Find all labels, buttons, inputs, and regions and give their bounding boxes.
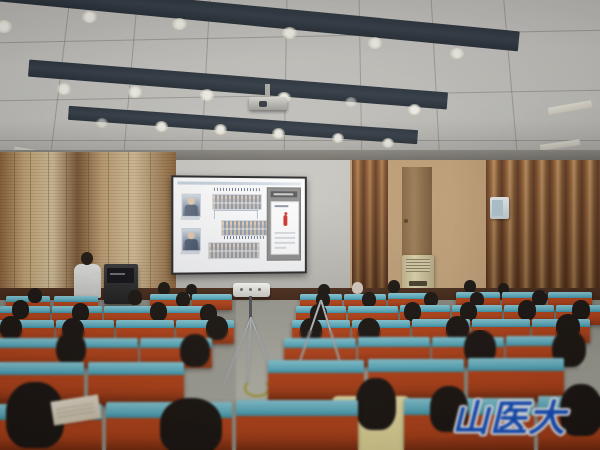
tripod-leg <box>320 300 343 369</box>
downlight <box>172 18 187 30</box>
presenter <box>72 252 102 300</box>
head <box>0 316 22 340</box>
head <box>150 302 167 321</box>
screen-glare <box>173 177 305 272</box>
head <box>176 292 190 307</box>
head <box>128 290 142 305</box>
projector-body <box>249 97 287 110</box>
tripod-leg <box>297 300 322 367</box>
seat-top <box>548 292 592 298</box>
head <box>388 280 400 293</box>
camera-indicator <box>249 288 252 291</box>
downlight <box>450 48 464 59</box>
ac-display-panel <box>409 281 427 286</box>
seat-top <box>368 359 464 372</box>
power-cable <box>244 379 270 397</box>
camera-indicator <box>258 288 261 291</box>
head <box>28 288 42 303</box>
presenter-head <box>81 252 93 265</box>
downlight <box>345 97 357 107</box>
lectern-monitor-text <box>110 273 125 275</box>
seat-top <box>0 362 84 375</box>
downlight <box>408 104 421 115</box>
head hair-light <box>352 282 363 294</box>
watermark-text: 山医大 <box>452 396 592 442</box>
head <box>356 378 396 430</box>
head <box>362 292 376 307</box>
seat-shading <box>236 438 358 450</box>
seat-top <box>358 337 430 347</box>
presentation-slide <box>173 177 305 272</box>
lecture-hall-photo: 山医大 <box>0 0 600 450</box>
speaker-grille <box>492 200 503 216</box>
downlight <box>57 83 71 95</box>
camera-device[interactable] <box>233 283 270 297</box>
downlight <box>200 89 214 101</box>
head <box>180 334 210 367</box>
seat-top <box>472 319 530 327</box>
lectern-monitor <box>107 268 134 283</box>
downlight <box>282 27 297 39</box>
ceiling-band-2 <box>28 60 448 110</box>
ceiling <box>0 0 600 175</box>
projector <box>249 84 287 117</box>
door-handle[interactable] <box>404 219 408 223</box>
seat-top <box>0 338 64 348</box>
seat-top <box>192 294 232 300</box>
seat-top <box>348 306 398 313</box>
seat-top <box>104 306 154 313</box>
head <box>206 316 228 340</box>
downlight <box>368 37 382 49</box>
seat-top <box>88 362 184 375</box>
seat-top <box>268 360 364 373</box>
ceiling-band-1 <box>0 0 520 51</box>
head <box>160 398 222 450</box>
downlight <box>0 20 12 33</box>
downlight <box>82 11 97 23</box>
downlight <box>128 86 142 98</box>
presenter-torso <box>74 264 101 298</box>
panel-light <box>548 100 593 115</box>
projection-screen <box>171 175 307 274</box>
seat[interactable] <box>88 362 184 406</box>
projector-lens <box>259 101 267 107</box>
seat-top <box>468 358 564 371</box>
camera-lens <box>240 288 243 291</box>
ac-vent-grille <box>406 259 430 272</box>
head <box>518 300 536 320</box>
projector-mount <box>265 84 270 98</box>
seat-top <box>116 320 174 328</box>
head <box>56 332 86 365</box>
seat-top <box>54 296 98 302</box>
seat-top <box>236 400 358 416</box>
wall-speaker <box>490 197 509 219</box>
seat[interactable] <box>236 400 358 450</box>
